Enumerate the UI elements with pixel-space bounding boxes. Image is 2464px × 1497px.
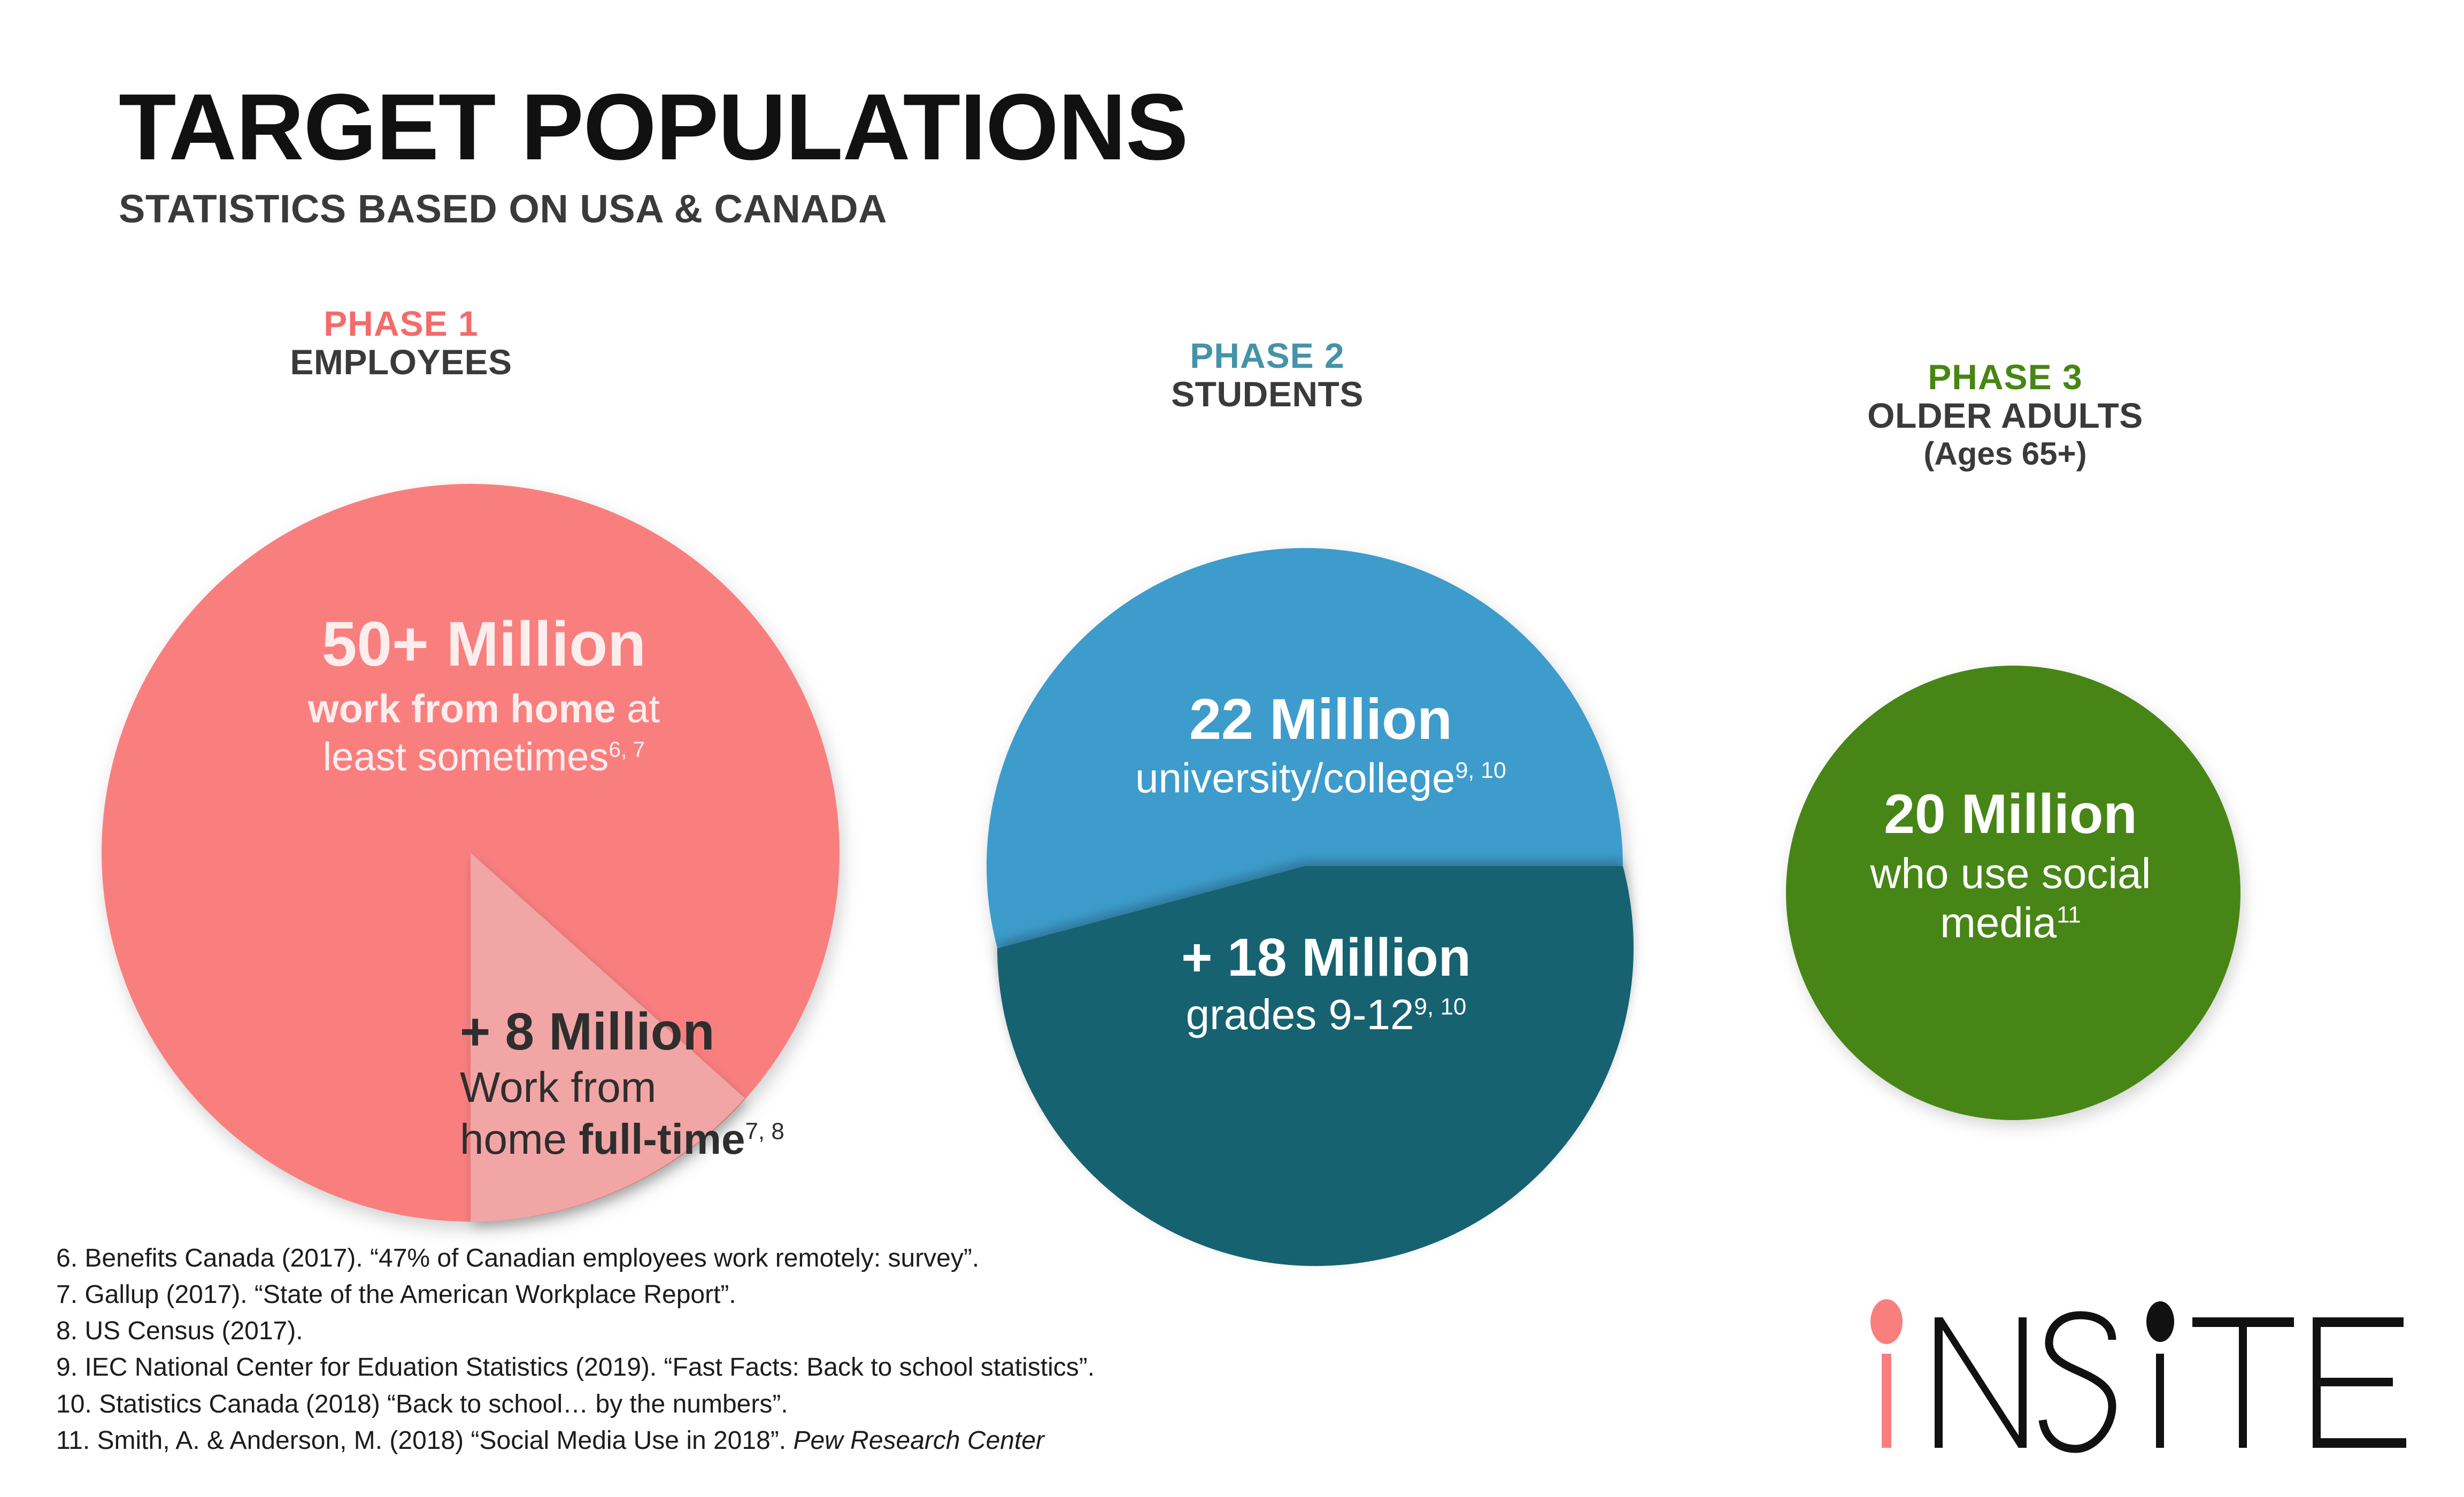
phase-2-name: STUDENTS <box>1000 375 1535 414</box>
insite-logo-mark <box>1861 1294 2412 1454</box>
page-subtitle: STATISTICS BASED ON USA & CANADA <box>119 186 1188 232</box>
footnotes-list: 6. Benefits Canada (2017). “47% of Canad… <box>56 1240 1446 1459</box>
insite-logo <box>1861 1294 2412 1457</box>
footnote-6: 6. Benefits Canada (2017). “47% of Canad… <box>56 1240 1446 1277</box>
footnote-11: 11. Smith, A. & Anderson, M. (2018) “Soc… <box>56 1423 1446 1459</box>
phase-1-pie-chart <box>96 470 898 1251</box>
phase-1-heading-group: PHASE 1 EMPLOYEES <box>107 305 695 382</box>
phase-2-pie-chart <box>984 545 1658 1219</box>
phase-1-label: PHASE 1 <box>107 305 695 343</box>
header: TARGET POPULATIONS STATISTICS BASED ON U… <box>119 80 1188 232</box>
page-title: TARGET POPULATIONS <box>119 80 1188 174</box>
pie-3-slice-social-media <box>1786 666 2240 1120</box>
footnote-7: 7. Gallup (2017). “State of the American… <box>56 1277 1446 1313</box>
phase-3-name: OLDER ADULTS <box>1695 396 2315 436</box>
logo-i2-dot-icon <box>2146 1301 2174 1342</box>
logo-i-dot-icon <box>1870 1299 1903 1344</box>
footnote-8: 8. US Census (2017). <box>56 1313 1446 1349</box>
phase-2-label: PHASE 2 <box>1000 337 1535 375</box>
phase-3-sub: (Ages 65+) <box>1695 436 2315 472</box>
logo-i-stem <box>1882 1354 1891 1448</box>
phase-3-circle-chart <box>1781 660 2246 1125</box>
phase-1-name: EMPLOYEES <box>107 343 695 382</box>
footnote-9: 9. IEC National Center for Eduation Stat… <box>56 1349 1446 1386</box>
phase-3-label: PHASE 3 <box>1695 358 2315 396</box>
pie-2-slice-grades <box>997 866 1634 1266</box>
phase-3-heading-group: PHASE 3 OLDER ADULTS (Ages 65+) <box>1695 358 2315 472</box>
phase-2-heading-group: PHASE 2 STUDENTS <box>1000 337 1535 414</box>
footnote-10: 10. Statistics Canada (2018) “Back to sc… <box>56 1386 1446 1423</box>
